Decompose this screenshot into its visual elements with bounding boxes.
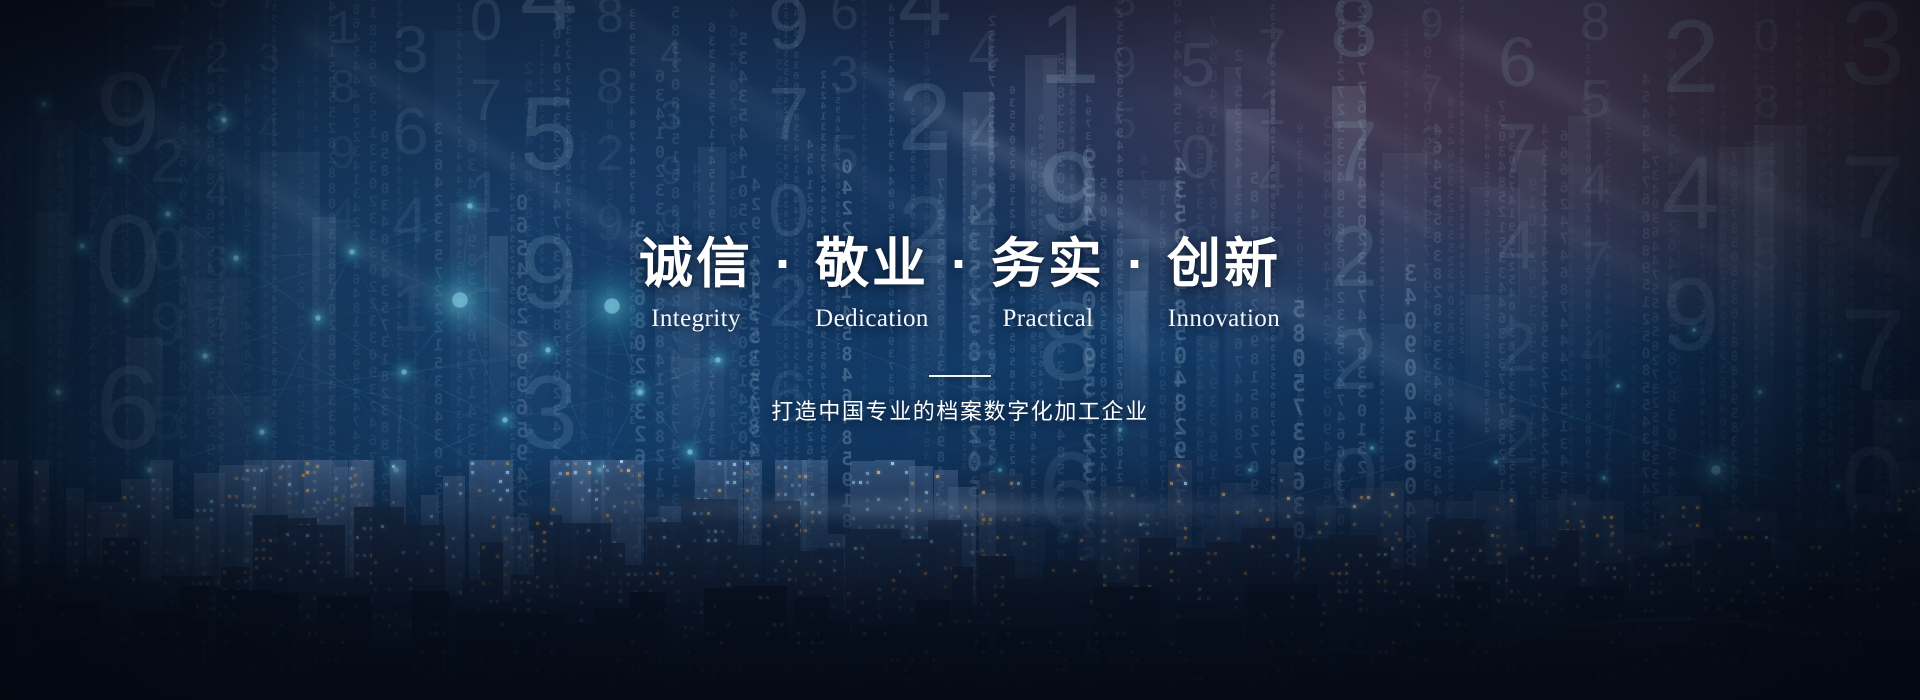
corporate-values-hero-banner: 1906672095623465197343189433641071145935… [0, 0, 1920, 700]
value-cn-practical: 务实 [991, 236, 1105, 292]
value-item-practical: 务实 Practical [991, 236, 1105, 331]
banner-content: 诚信 Integrity · 敬业 Dedication · 务实 Practi… [0, 236, 1920, 426]
value-en-practical: Practical [1002, 306, 1093, 331]
value-item-dedication: 敬业 Dedication [815, 236, 929, 331]
values-headline-row: 诚信 Integrity · 敬业 Dedication · 务实 Practi… [0, 236, 1920, 331]
value-en-innovation: Innovation [1168, 306, 1280, 331]
value-en-integrity: Integrity [651, 306, 741, 331]
value-separator-3: · [1105, 236, 1167, 292]
value-separator-1: · [753, 236, 815, 292]
value-cn-integrity: 诚信 [639, 236, 753, 292]
value-separator-2: · [929, 236, 991, 292]
value-en-dedication: Dedication [815, 306, 929, 331]
banner-tagline: 打造中国专业的档案数字化加工企业 [0, 399, 1920, 425]
value-item-innovation: 创新 Innovation [1167, 236, 1281, 331]
value-item-integrity: 诚信 Integrity [639, 236, 753, 331]
tagline-divider [929, 375, 991, 377]
value-cn-innovation: 创新 [1167, 236, 1281, 292]
value-cn-dedication: 敬业 [815, 236, 929, 292]
